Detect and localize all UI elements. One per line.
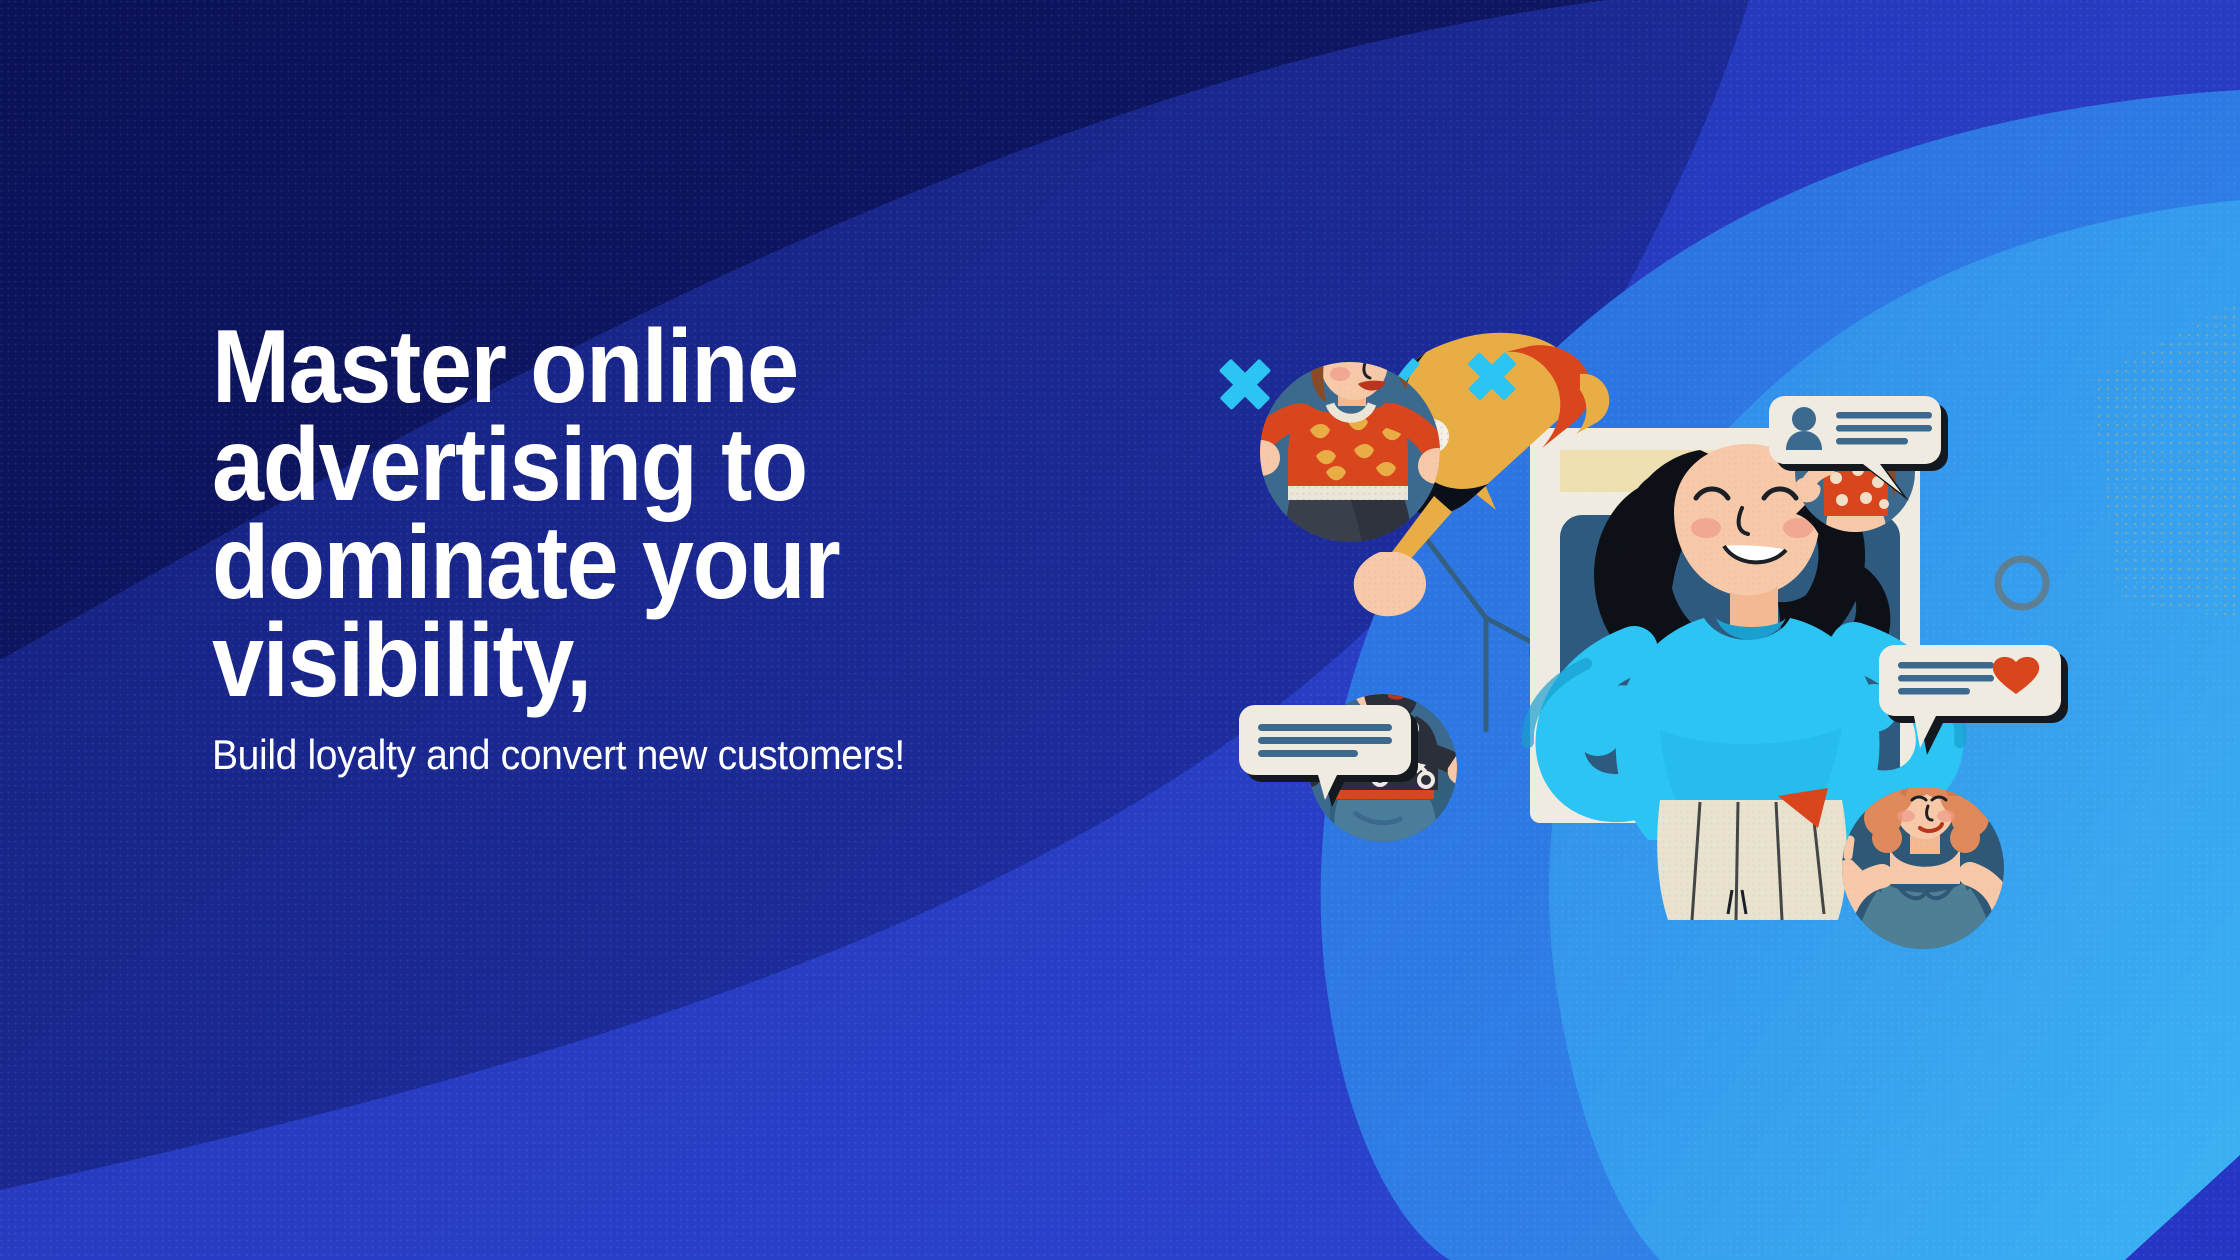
hero-illustration <box>1230 300 2160 980</box>
avatar-woman-floral-top <box>1238 300 1460 600</box>
illustration-artwork <box>1230 300 2160 980</box>
page-subtitle: Build loyalty and convert new customers! <box>212 732 1049 778</box>
headline-block: Master online advertising to dominate yo… <box>212 318 1112 778</box>
circle-outline-icon <box>1998 559 2046 607</box>
page-title: Master online advertising to dominate yo… <box>212 318 1022 710</box>
banner-root: Master online advertising to dominate yo… <box>0 0 2240 1260</box>
